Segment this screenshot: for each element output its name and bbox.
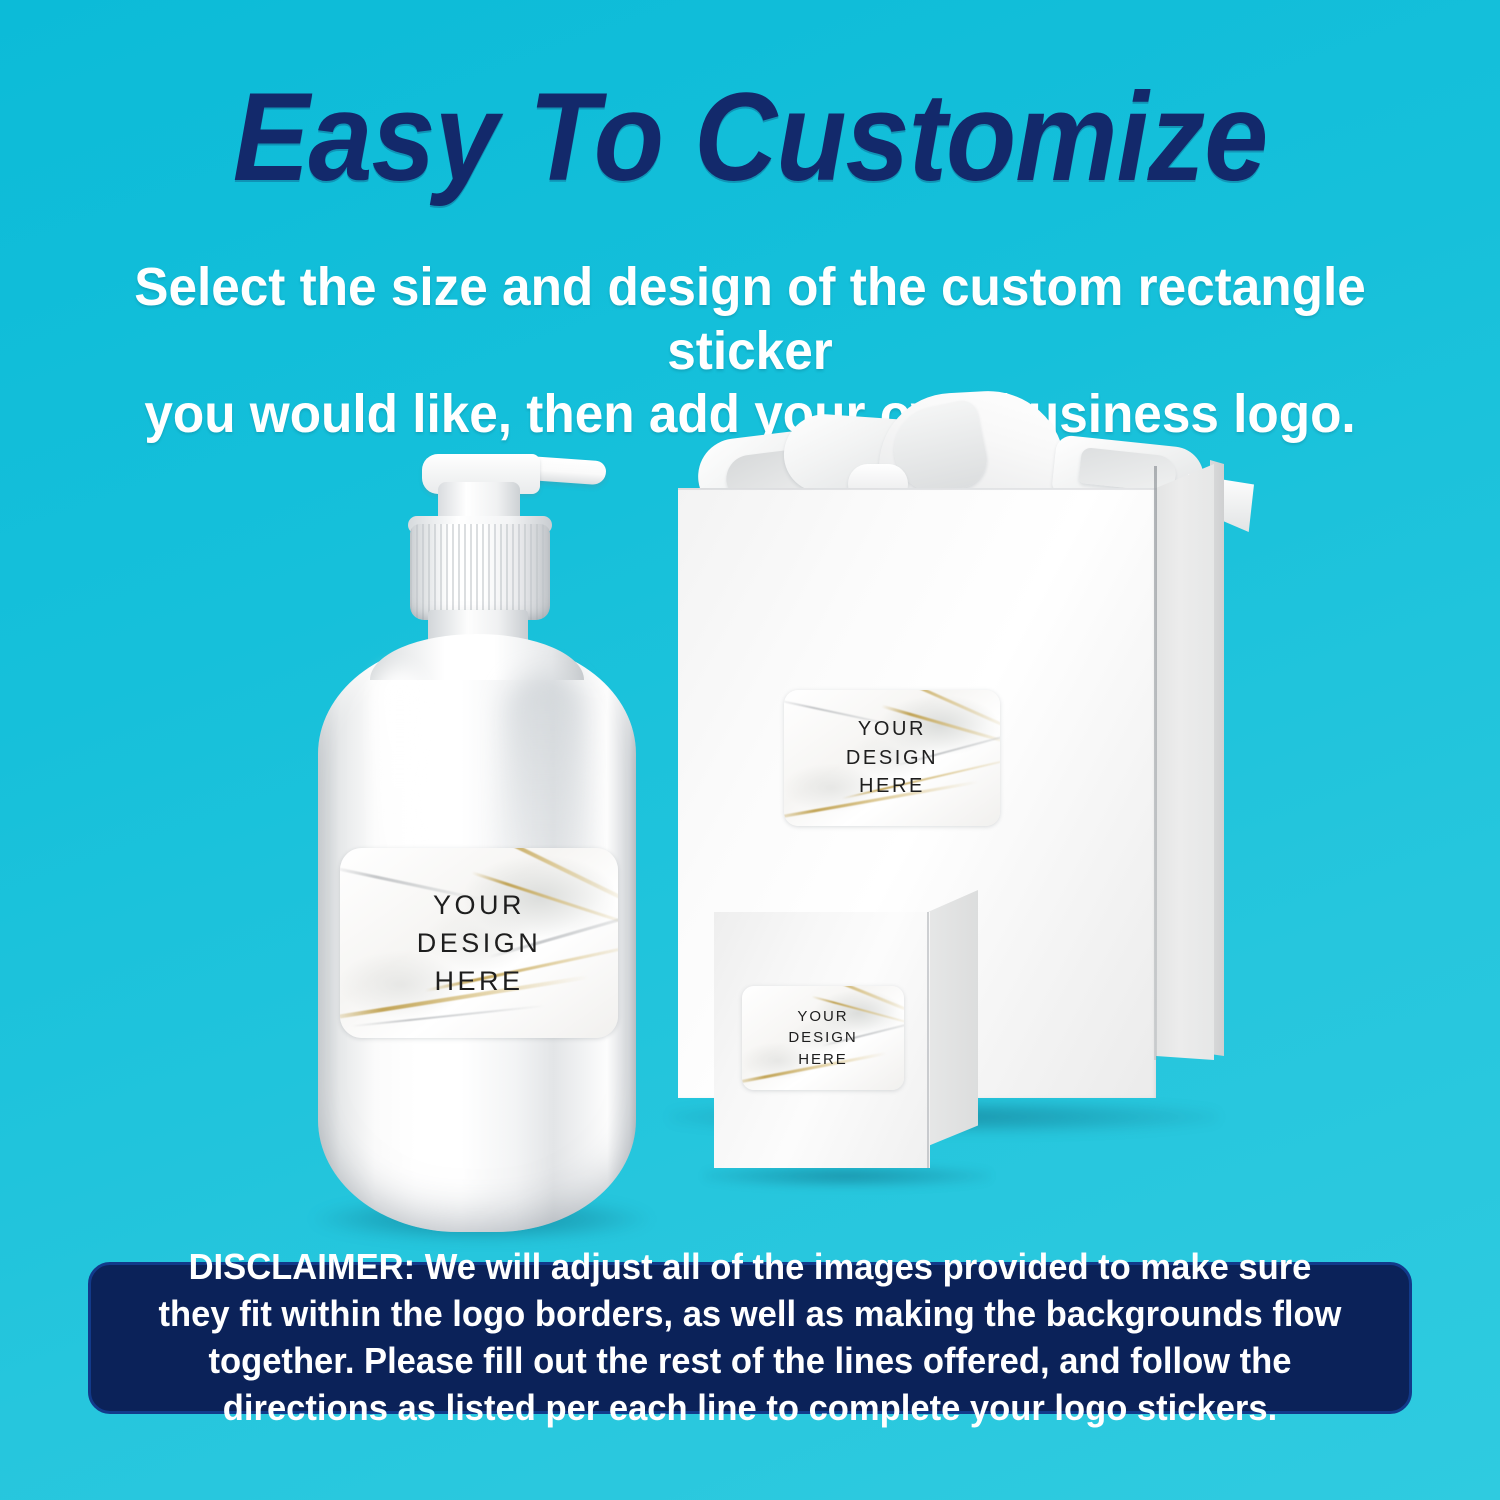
sticker-placeholder-text: YOUR DESIGN HERE — [742, 986, 904, 1090]
gift-box-side-panel — [1156, 464, 1214, 1060]
sticker-bottle[interactable]: YOUR DESIGN HERE — [340, 848, 618, 1038]
sticker-line-3: HERE — [798, 1049, 847, 1070]
sticker-line-2: DESIGN — [788, 1027, 857, 1048]
sticker-placeholder-text: YOUR DESIGN HERE — [340, 848, 618, 1038]
promo-banner: Easy To Customize Select the size and de… — [0, 0, 1500, 1500]
pump-bottle-product: YOUR DESIGN HERE — [300, 420, 660, 1250]
small-box-product: YOUR DESIGN HERE — [700, 890, 1000, 1190]
sticker-gift-box[interactable]: YOUR DESIGN HERE — [784, 690, 1000, 826]
disclaimer-text: DISCLAIMER: We will adjust all of the im… — [150, 1244, 1350, 1431]
sticker-line-3: HERE — [434, 962, 523, 1000]
sticker-line-3: HERE — [859, 772, 925, 800]
gift-box-edge — [1154, 466, 1157, 1060]
sticker-line-1: YOUR — [858, 715, 926, 743]
sticker-placeholder-text: YOUR DESIGN HERE — [784, 690, 1000, 826]
small-box-side-panel — [928, 890, 978, 1146]
sticker-line-2: DESIGN — [846, 744, 938, 772]
disclaimer-label: DISCLAIMER: — [189, 1246, 416, 1287]
sticker-line-2: DESIGN — [417, 924, 542, 962]
sticker-line-1: YOUR — [433, 886, 525, 924]
page-title: Easy To Customize — [60, 74, 1440, 202]
bottle-cap-collar — [410, 524, 550, 620]
sticker-line-1: YOUR — [797, 1006, 848, 1027]
small-box-edge — [927, 912, 929, 1168]
product-scene: YOUR DESIGN HERE — [0, 390, 1500, 1250]
gift-box-lid-line — [678, 488, 1156, 490]
disclaimer-box: DISCLAIMER: We will adjust all of the im… — [88, 1262, 1412, 1414]
subtitle-line-1: Select the size and design of the custom… — [128, 256, 1373, 383]
sticker-small-box[interactable]: YOUR DESIGN HERE — [742, 986, 904, 1090]
